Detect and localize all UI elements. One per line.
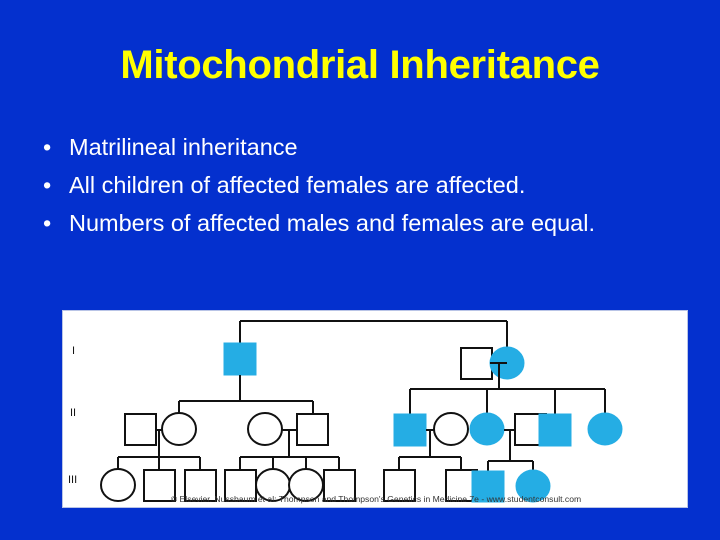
list-item: • Numbers of affected males and females …: [38, 207, 678, 239]
individual-II-4-unaffected-male: [297, 414, 328, 445]
individual-II-2-unaffected-female: [162, 413, 196, 445]
sibship-line-gen3-family4: [488, 461, 533, 471]
page-title: Mitochondrial Inheritance: [0, 42, 720, 88]
pedigree-chart-panel: I II III: [62, 310, 688, 508]
list-item-text: Numbers of affected males and females ar…: [69, 210, 595, 236]
sibship-line-gen3-family1: [118, 457, 200, 469]
sibship-line-gen1: [240, 321, 507, 347]
generation-label-i: I: [72, 345, 75, 357]
bullet-marker-icon: •: [43, 131, 51, 163]
list-item-text: All children of affected females are aff…: [69, 172, 525, 198]
individual-I-2-unaffected-male: [461, 348, 492, 379]
sibship-line-gen2-right: [410, 389, 605, 414]
individual-I-1-affected-male: [224, 343, 256, 375]
presentation-slide: Mitochondrial Inheritance • Matrilineal …: [0, 0, 720, 540]
individual-II-6-unaffected-female: [434, 413, 468, 445]
individual-II-5-affected-male: [394, 414, 426, 446]
bullet-marker-icon: •: [43, 207, 51, 239]
list-item-text: Matrilineal inheritance: [69, 134, 298, 160]
sibship-line-gen3-family3: [399, 457, 461, 469]
generation-label-iii: III: [68, 474, 77, 486]
generation-label-ii: II: [70, 407, 76, 419]
list-item: • Matrilineal inheritance: [38, 131, 678, 163]
list-item: • All children of affected females are a…: [38, 169, 678, 201]
bullet-marker-icon: •: [43, 169, 51, 201]
bullet-list: • Matrilineal inheritance • All children…: [38, 131, 678, 245]
individual-II-10-affected-female: [588, 413, 622, 445]
sibship-line-gen2-left: [179, 401, 313, 414]
individual-II-9-affected-male: [539, 414, 571, 446]
sibship-line-gen3-family2: [240, 457, 339, 469]
individual-II-7-affected-female: [470, 413, 504, 445]
pedigree-caption: © Elsevier. Nussbaum et al: Thompson and…: [63, 494, 689, 504]
individual-II-3-unaffected-female: [248, 413, 282, 445]
pedigree-diagram: I II III: [63, 311, 689, 509]
individual-II-1-unaffected-male: [125, 414, 156, 445]
